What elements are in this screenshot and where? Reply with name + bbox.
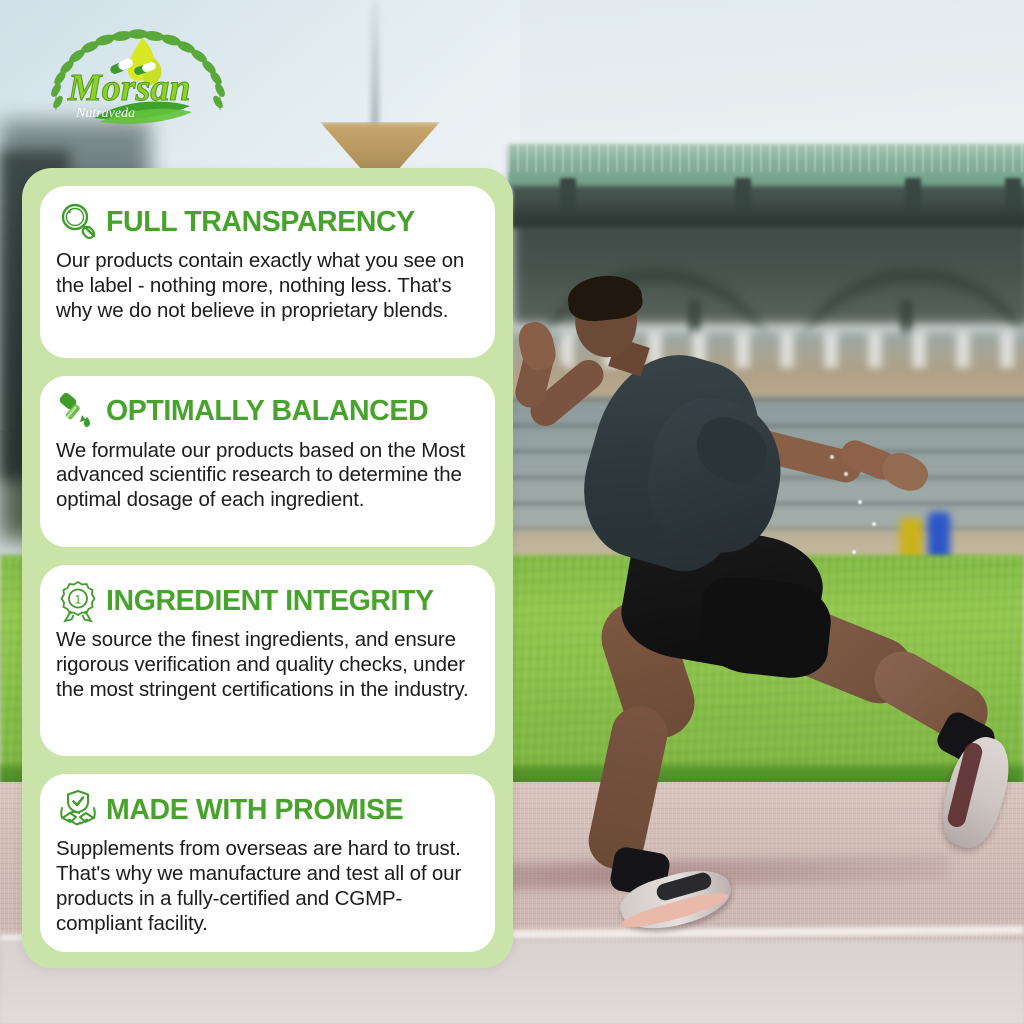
feature-card-optimally-balanced: OPTIMALLY BALANCED We formulate our prod… bbox=[40, 376, 495, 548]
feature-card-full-transparency: FULL TRANSPARENCY Our products contain e… bbox=[40, 186, 495, 358]
card-title: FULL TRANSPARENCY bbox=[106, 208, 415, 237]
handshake-shield-check-icon bbox=[56, 788, 100, 832]
promo-graphic: Morsan Morsan Nutraveda bbox=[0, 0, 1024, 1024]
feature-cards-list: FULL TRANSPARENCY Our products contain e… bbox=[40, 186, 495, 952]
card-body-text: We formulate our products based on the M… bbox=[56, 439, 477, 514]
card-header: 1 INGREDIENT INTEGRITY bbox=[56, 579, 477, 623]
card-header: MADE WITH PROMISE bbox=[56, 788, 477, 832]
pole bbox=[371, 0, 379, 126]
card-body-text: Supplements from overseas are hard to tr… bbox=[56, 837, 477, 937]
card-title: INGREDIENT INTEGRITY bbox=[106, 587, 434, 616]
roof-ribs bbox=[508, 144, 1024, 172]
card-header: OPTIMALLY BALANCED bbox=[56, 390, 477, 434]
card-title: MADE WITH PROMISE bbox=[106, 796, 403, 825]
card-body-text: Our products contain exactly what you se… bbox=[56, 249, 477, 324]
roof-hanger bbox=[735, 178, 751, 210]
card-body-text: We source the finest ingredients, and en… bbox=[56, 628, 477, 703]
award-ribbon-icon: 1 bbox=[56, 579, 100, 623]
feature-card-made-with-promise: MADE WITH PROMISE Supplements from overs… bbox=[40, 774, 495, 952]
magnifying-glass-icon bbox=[56, 200, 100, 244]
dropper-pipette-icon bbox=[56, 390, 100, 434]
roof-hanger bbox=[560, 178, 576, 210]
svg-text:1: 1 bbox=[75, 593, 82, 607]
roof-hanger bbox=[905, 178, 921, 210]
runner-athlete bbox=[500, 250, 1024, 1024]
card-title: OPTIMALLY BALANCED bbox=[106, 397, 428, 426]
brand-logo: Morsan Morsan Nutraveda bbox=[38, 22, 238, 127]
roof-hanger bbox=[1005, 178, 1021, 210]
card-header: FULL TRANSPARENCY bbox=[56, 200, 477, 244]
feature-card-ingredient-integrity: 1 INGREDIENT INTEGRITY We source the fin… bbox=[40, 565, 495, 756]
logo-tagline: Nutraveda bbox=[75, 106, 135, 121]
